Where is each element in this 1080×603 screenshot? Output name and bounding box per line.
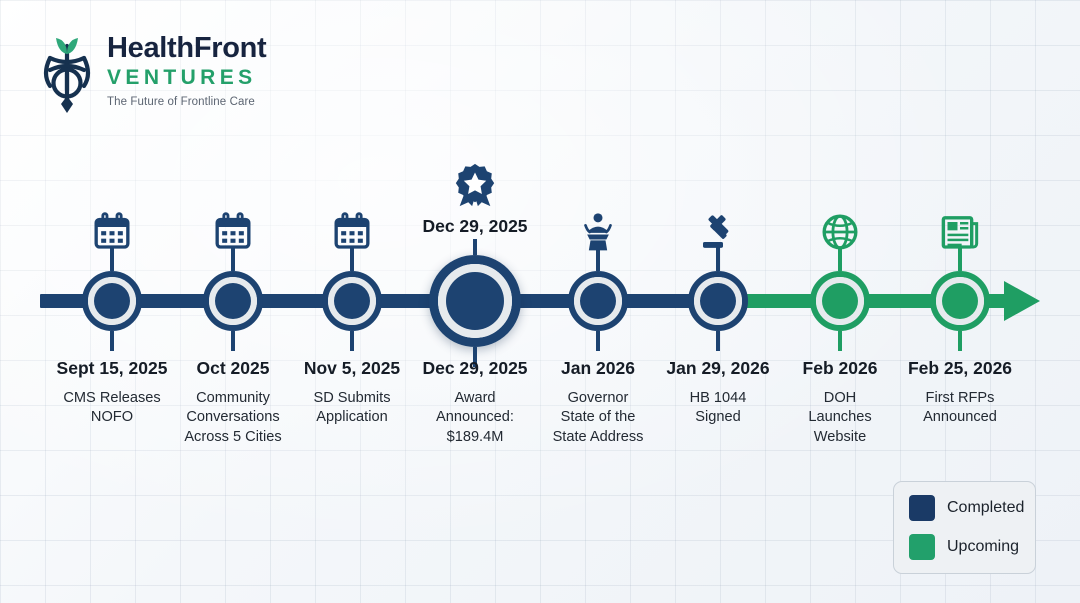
timeline-node[interactable] [322, 271, 382, 331]
timeline-node-ring-inner [574, 277, 622, 325]
timeline-node-ring [568, 271, 628, 331]
calendar-icon [332, 212, 372, 257]
calendar-icon [213, 212, 253, 257]
globe-icon [820, 212, 860, 257]
timeline-node-ring-inner [694, 277, 742, 325]
timeline-label: Feb 25, 2026First RFPsAnnounced [885, 358, 1035, 428]
timeline-node-stem-down [350, 331, 354, 351]
timeline-node-ring [930, 271, 990, 331]
timeline-axis-completed [40, 294, 740, 308]
timeline-node-stem-down [958, 331, 962, 351]
gavel-icon [698, 212, 738, 257]
newspaper-icon [940, 212, 980, 257]
legend-swatch-upcoming [909, 534, 935, 560]
podium-speaker-icon [578, 212, 618, 257]
timeline-node[interactable] [82, 271, 142, 331]
timeline-node-ring [322, 271, 382, 331]
timeline-node-ring-inner [438, 264, 512, 338]
legend-item-completed[interactable]: Completed [909, 495, 1020, 521]
timeline-node[interactable] [203, 271, 263, 331]
timeline-node[interactable] [688, 271, 748, 331]
timeline-node-stem-down [716, 331, 720, 351]
legend-label-upcoming: Upcoming [947, 538, 1019, 556]
timeline-node-stem-up [473, 239, 477, 255]
timeline-arrow-icon [1004, 281, 1040, 321]
legend-swatch-completed [909, 495, 935, 521]
timeline-node[interactable] [810, 271, 870, 331]
timeline-node-core [334, 283, 370, 319]
timeline-node-ring [429, 255, 521, 347]
timeline-node-ring-inner [936, 277, 984, 325]
timeline-node[interactable] [930, 271, 990, 331]
timeline-node-ring [810, 271, 870, 331]
timeline-node[interactable] [429, 255, 521, 347]
timeline-node-core [580, 283, 616, 319]
timeline-node-core [822, 283, 858, 319]
timeline-node-ring [82, 271, 142, 331]
timeline-node-core [700, 283, 736, 319]
award-ribbon-icon [452, 162, 498, 213]
timeline-node-stem-down [231, 331, 235, 351]
timeline-node-core [446, 272, 504, 330]
calendar-icon [92, 212, 132, 257]
timeline-node-core [942, 283, 978, 319]
legend-label-completed: Completed [947, 499, 1024, 517]
legend-item-upcoming[interactable]: Upcoming [909, 534, 1020, 560]
milestone-date: Feb 25, 2026 [885, 358, 1035, 379]
timeline-node-ring-inner [328, 277, 376, 325]
timeline-node-stem-down [596, 331, 600, 351]
timeline-node-ring [203, 271, 263, 331]
timeline-node-core [215, 283, 251, 319]
timeline-node[interactable] [568, 271, 628, 331]
timeline-node-ring-inner [816, 277, 864, 325]
legend: Completed Upcoming [893, 481, 1036, 574]
featured-milestone-date: Dec 29, 2025 [422, 216, 527, 237]
timeline-node-ring [688, 271, 748, 331]
timeline-node-ring-inner [209, 277, 257, 325]
timeline-node-stem-down [110, 331, 114, 351]
milestone-description: First RFPsAnnounced [885, 389, 1035, 428]
timeline-node-stem-down [838, 331, 842, 351]
timeline-node-core [94, 283, 130, 319]
infographic-canvas: HealthFront VENTURES The Future of Front… [0, 0, 1080, 603]
timeline-node-ring-inner [88, 277, 136, 325]
